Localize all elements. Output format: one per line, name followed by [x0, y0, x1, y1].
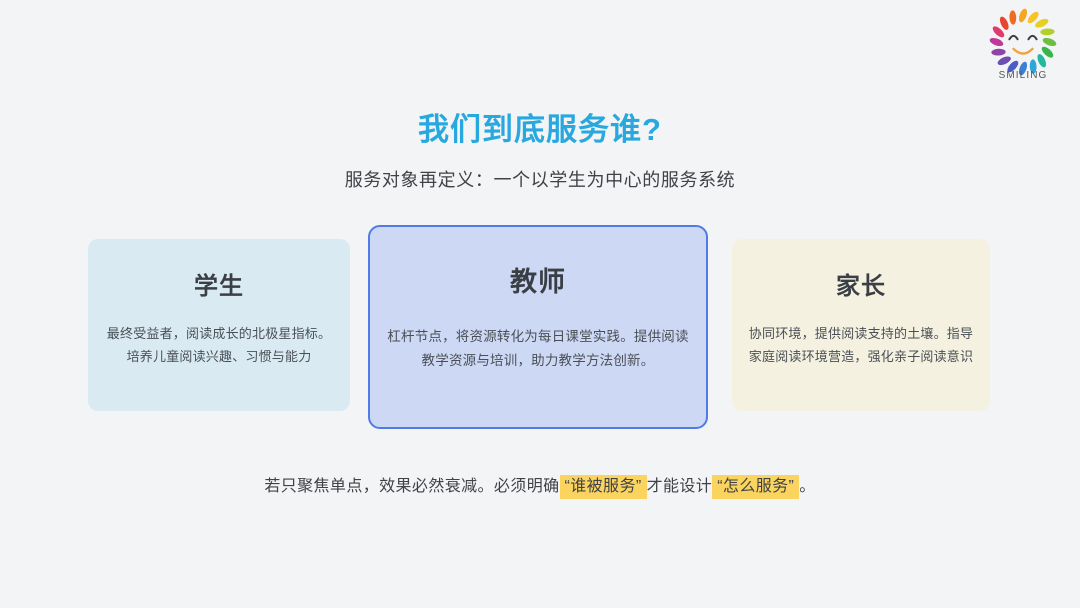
card-parent-body: 协同环境，提供阅读支持的土壤。指导家庭阅读环境营造，强化亲子阅读意识 — [748, 301, 974, 369]
footnote-part2: 才能设计 — [647, 478, 713, 495]
footnote: 若只聚焦单点，效果必然衰减。必须明确“谁被服务”才能设计“怎么服务”。 — [0, 472, 1080, 496]
footnote-part1: 若只聚焦单点，效果必然衰减。必须明确 — [264, 478, 559, 495]
audience-cards: 学生 最终受益者，阅读成长的北极星指标。培养儿童阅读兴趣、习惯与能力 教师 杠杆… — [0, 225, 1080, 435]
card-student-body: 最终受益者，阅读成长的北极星指标。培养儿童阅读兴趣、习惯与能力 — [104, 301, 334, 369]
card-student-heading: 学生 — [104, 239, 334, 301]
footnote-part3: 。 — [799, 478, 815, 495]
card-parent[interactable]: 家长 协同环境，提供阅读支持的土壤。指导家庭阅读环境营造，强化亲子阅读意识 — [732, 239, 990, 411]
card-teacher[interactable]: 教师 杠杆节点，将资源转化为每日课堂实践。提供阅读教学资源与培训，助力教学方法创… — [368, 225, 708, 429]
footnote-highlight-how: “怎么服务” — [712, 475, 799, 499]
footnote-highlight-who: “谁被服务” — [560, 475, 647, 499]
card-student[interactable]: 学生 最终受益者，阅读成长的北极星指标。培养儿童阅读兴趣、习惯与能力 — [88, 239, 350, 411]
logo-wordmark: SMILING — [980, 70, 1066, 81]
card-teacher-body: 杠杆节点，将资源转化为每日课堂实践。提供阅读教学资源与培训，助力教学方法创新。 — [386, 299, 690, 372]
page-title: 我们到底服务谁? — [0, 104, 1080, 149]
card-teacher-heading: 教师 — [386, 227, 690, 299]
brand-logo: SMILING — [980, 8, 1066, 81]
page-subtitle: 服务对象再定义：一个以学生为中心的服务系统 — [0, 166, 1080, 192]
card-parent-heading: 家长 — [748, 239, 974, 301]
smiling-sun-logo-icon — [989, 8, 1057, 76]
